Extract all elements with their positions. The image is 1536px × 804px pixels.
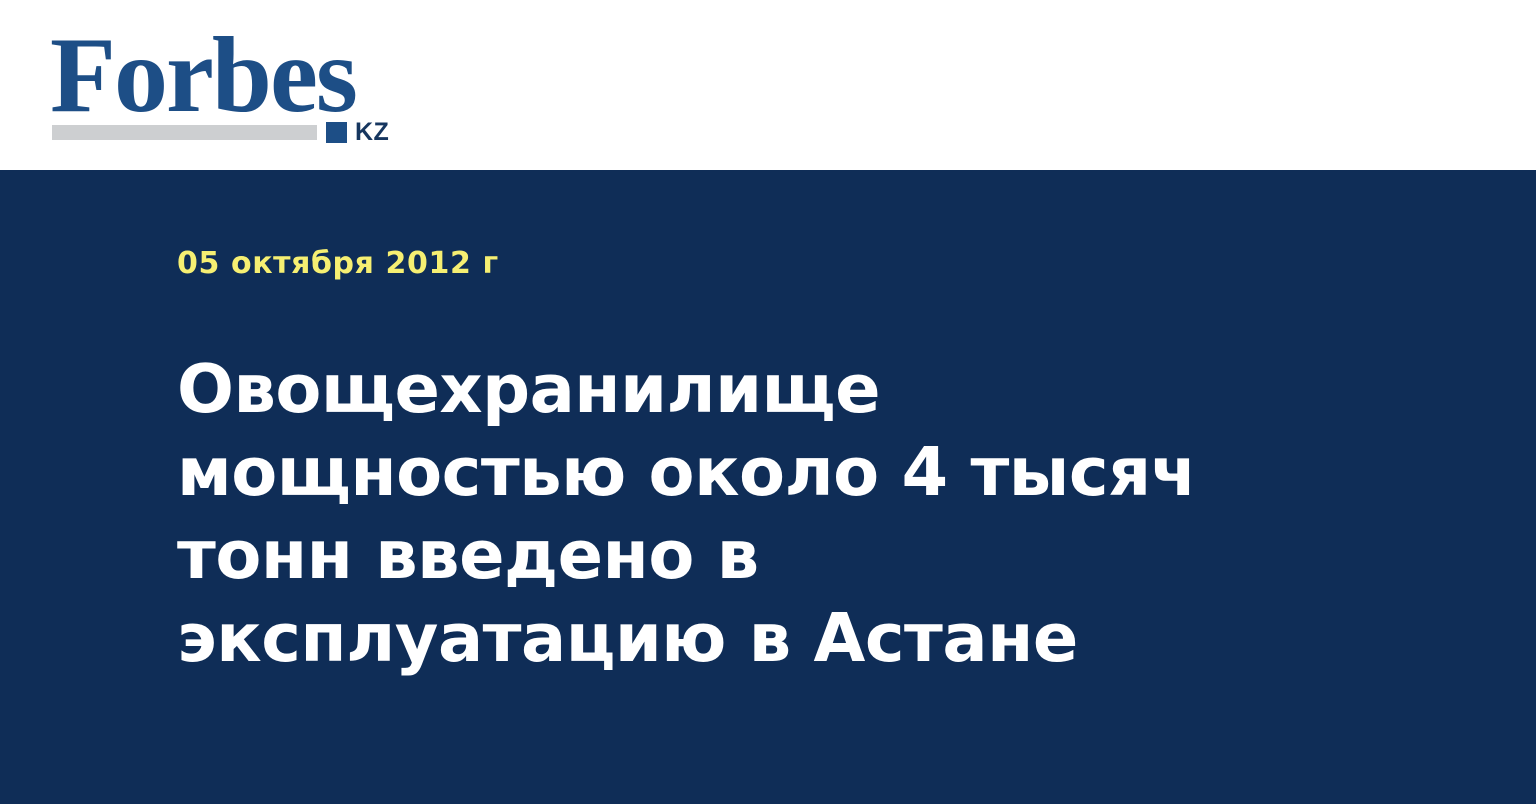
article-publish-date: 05 октября 2012 г [177,246,1297,282]
logo-underline-rule [52,125,317,140]
forbes-kz-logo[interactable]: Forbes kz [50,22,410,146]
square-mark-icon [326,122,347,143]
article-headline: Овощехранилище мощностью около 4 тысяч т… [177,348,1282,680]
logo-domain-label: kz [355,122,389,143]
site-header: Forbes kz [0,0,1536,170]
forbes-wordmark: Forbes [50,22,356,130]
article-hero-page: Forbes kz 05 октября 2012 г Овощехранили… [0,0,1536,804]
hero-content: 05 октября 2012 г Овощехранилище мощност… [177,246,1297,680]
article-hero: 05 октября 2012 г Овощехранилище мощност… [0,170,1536,804]
logo-kz-lockup: kz [326,122,389,143]
